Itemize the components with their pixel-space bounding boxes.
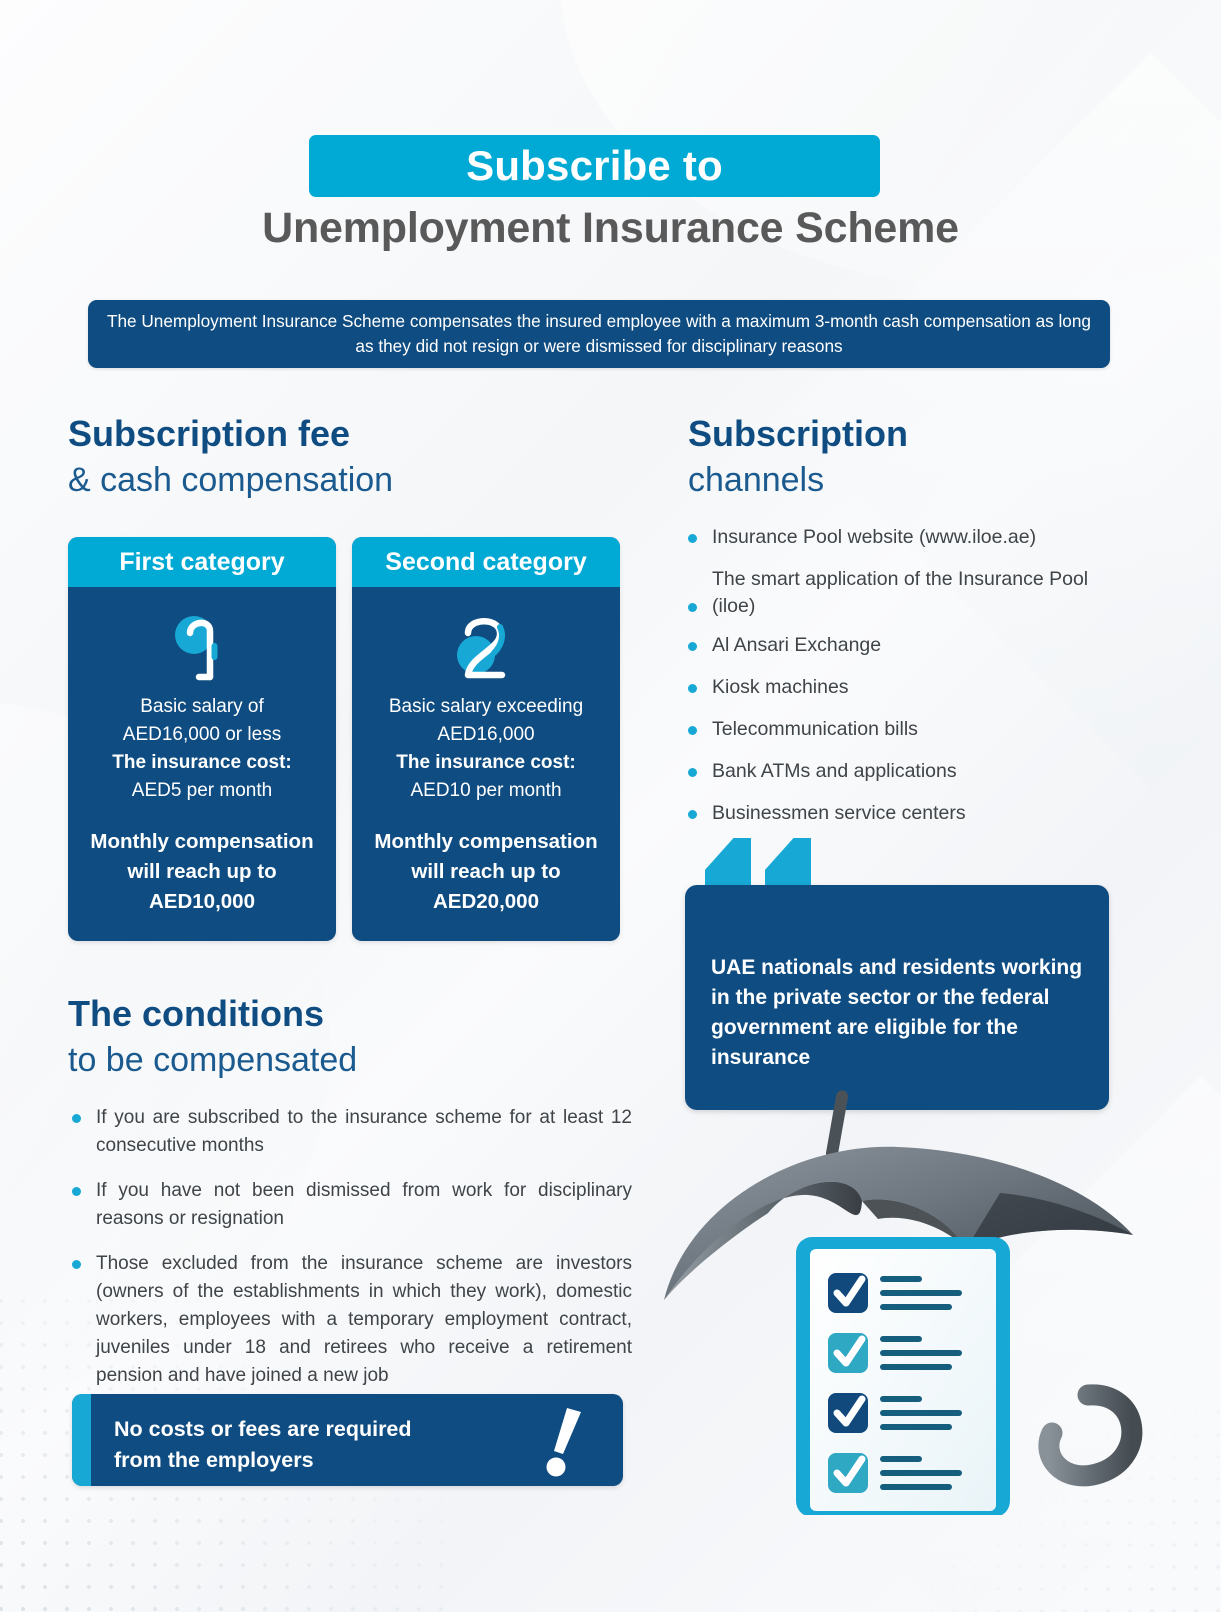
channel-item-2[interactable]: Al Ansari Exchange <box>672 632 1112 659</box>
category-card-first-body: Basic salary of AED16,000 or less The in… <box>68 587 336 941</box>
second-comp-line1: Monthly compensation <box>366 827 606 857</box>
eligibility-quote-text: UAE nationals and residents working in t… <box>711 953 1083 1073</box>
category-card-second: Second category Basic salary exceeding A… <box>352 537 620 941</box>
intro-banner: The Unemployment Insurance Scheme compen… <box>88 300 1110 368</box>
page-title: Unemployment Insurance Scheme <box>0 204 1221 253</box>
note-accent-bar <box>72 1394 91 1486</box>
conditions-heading-line2: to be compensated <box>68 1036 357 1084</box>
category-card-first: First category Basic salary of AED16,000… <box>68 537 336 941</box>
category-card-first-title: First category <box>119 548 284 577</box>
category-card-second-body: Basic salary exceeding AED16,000 The ins… <box>352 587 620 941</box>
channels-heading-line1: Subscription <box>688 412 908 456</box>
first-comp-line2: will reach up to <box>82 857 322 887</box>
subscribe-badge: Subscribe to <box>309 135 880 197</box>
first-cost-value: AED5 per month <box>82 777 322 805</box>
channel-item-4[interactable]: Telecommunication bills <box>672 716 1112 743</box>
channel-item-6[interactable]: Businessmen service centers <box>672 800 1112 827</box>
second-salary-line2: AED16,000 <box>366 721 606 749</box>
first-comp-line3: AED10,000 <box>82 887 322 917</box>
conditions-heading: The conditions to be compensated <box>68 992 357 1084</box>
category-card-second-header: Second category <box>352 537 620 587</box>
condition-item-0: If you are subscribed to the insurance s… <box>56 1104 632 1160</box>
second-comp-line2: will reach up to <box>366 857 606 887</box>
infographic-page: Subscribe to Unemployment Insurance Sche… <box>0 0 1221 1612</box>
eligibility-quote-box: UAE nationals and residents working in t… <box>685 885 1109 1110</box>
channels-heading-line2: channels <box>688 456 908 504</box>
first-salary-line2: AED16,000 or less <box>82 721 322 749</box>
condition-item-1: If you have not been dismissed from work… <box>56 1177 632 1233</box>
second-salary-line1: Basic salary exceeding <box>366 693 606 721</box>
first-salary-line1: Basic salary of <box>82 693 322 721</box>
umbrella-handle-icon <box>1049 1395 1132 1476</box>
intro-text: The Unemployment Insurance Scheme compen… <box>105 309 1093 359</box>
channel-item-1[interactable]: The smart application of the Insurance P… <box>672 566 1112 620</box>
umbrella-clipboard-illustration <box>648 1085 1148 1515</box>
second-comp-line3: AED20,000 <box>366 887 606 917</box>
exclamation-icon <box>537 1406 583 1483</box>
conditions-heading-line1: The conditions <box>68 992 357 1036</box>
subscribe-badge-label: Subscribe to <box>466 142 723 190</box>
category-card-first-header: First category <box>68 537 336 587</box>
second-cost-label: The insurance cost: <box>366 749 606 777</box>
subscription-fee-heading-line1: Subscription fee <box>68 412 393 456</box>
note-line1: No costs or fees are required <box>114 1417 412 1441</box>
channel-item-0[interactable]: Insurance Pool website (www.iloe.ae) <box>672 524 1112 551</box>
category-card-second-title: Second category <box>385 548 586 577</box>
number-two-icon <box>366 601 606 693</box>
first-cost-label: The insurance cost: <box>82 749 322 777</box>
second-cost-value: AED10 per month <box>366 777 606 805</box>
conditions-list: If you are subscribed to the insurance s… <box>56 1104 632 1407</box>
channel-item-3[interactable]: Kiosk machines <box>672 674 1112 701</box>
condition-item-2: Those excluded from the insurance scheme… <box>56 1250 632 1390</box>
subscription-fee-heading-line2: & cash compensation <box>68 456 393 504</box>
subscription-channels-heading: Subscription channels <box>688 412 908 504</box>
subscription-fee-heading: Subscription fee & cash compensation <box>68 412 393 504</box>
note-line2: from the employers <box>114 1448 314 1472</box>
first-comp-line1: Monthly compensation <box>82 827 322 857</box>
number-one-icon <box>82 601 322 693</box>
channels-list: Insurance Pool website (www.iloe.ae) The… <box>672 524 1112 842</box>
no-cost-note-banner: No costs or fees are required from the e… <box>72 1394 623 1486</box>
channel-item-5[interactable]: Bank ATMs and applications <box>672 758 1112 785</box>
